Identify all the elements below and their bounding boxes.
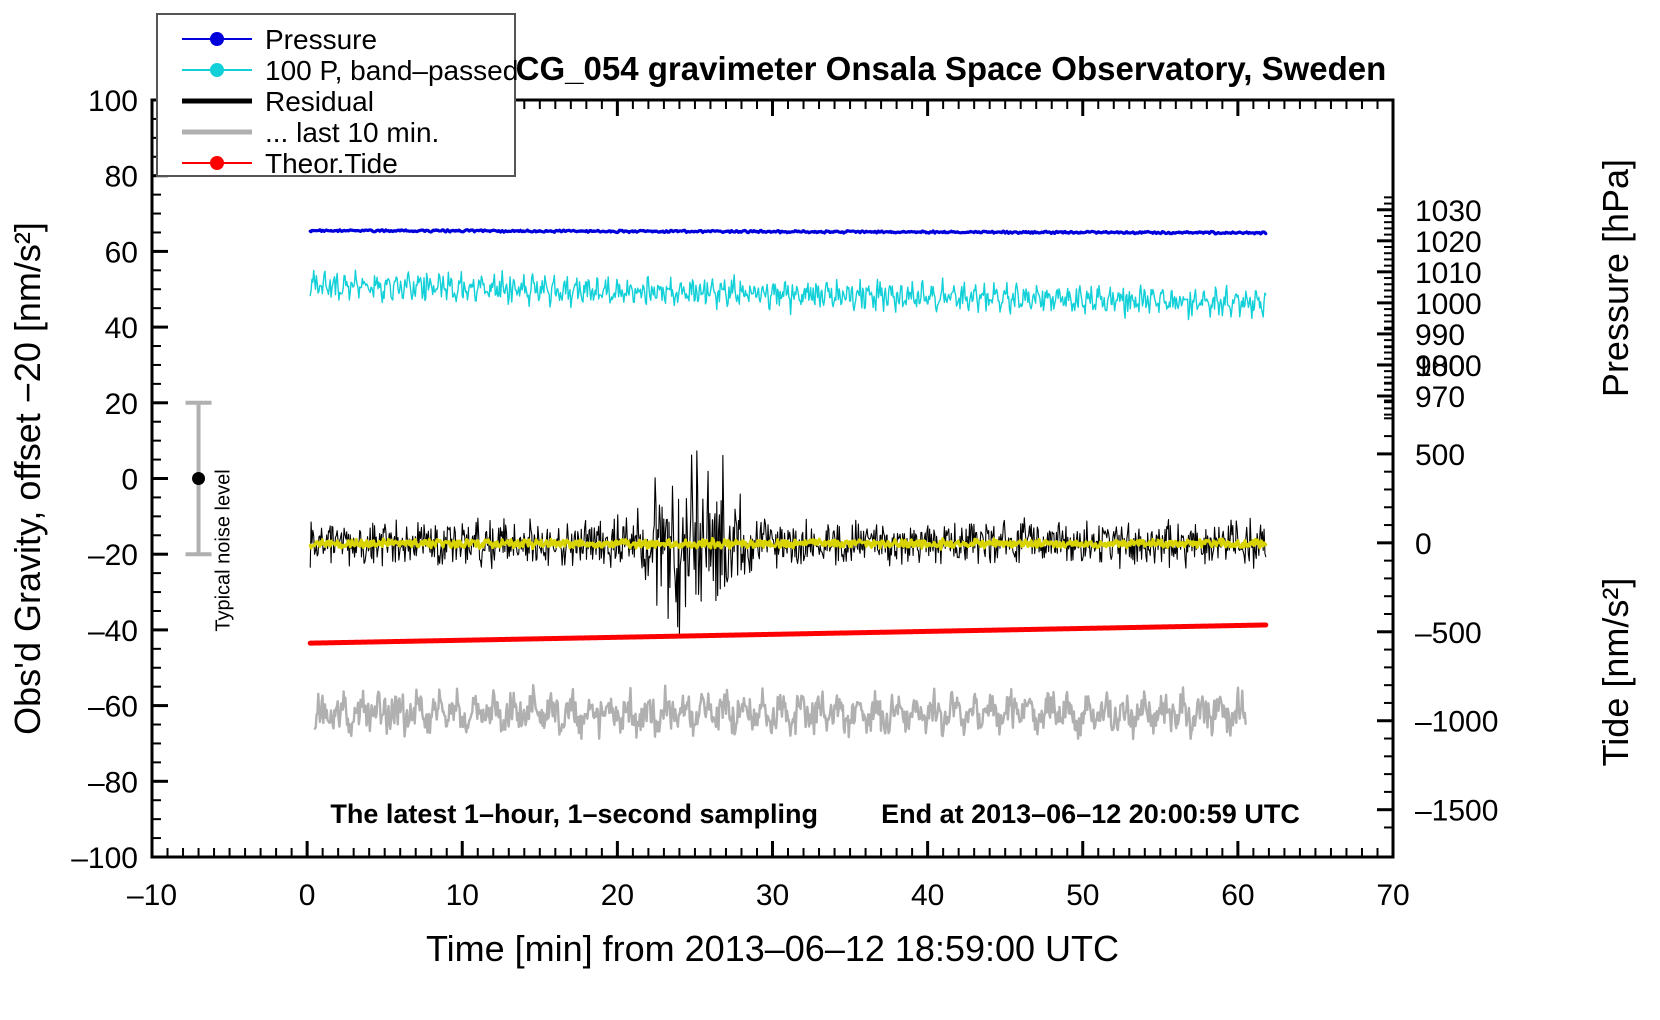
- tide-tick-label: 0: [1415, 528, 1432, 561]
- noise-center-dot: [192, 472, 205, 485]
- y-tick-label: –100: [71, 842, 138, 875]
- legend-item-label: 100 P, band–passed: [265, 55, 518, 86]
- pressure-tick-label: 990: [1415, 319, 1465, 352]
- gravimeter-plot: Typical noise level–10010203040506070Tim…: [0, 0, 1660, 1020]
- tide-axis-title: Tide [nm/s²]: [1595, 578, 1636, 767]
- y-tick-label: –20: [88, 539, 138, 572]
- legend-swatch-marker: [210, 63, 224, 77]
- x-tick-label: 0: [299, 879, 316, 912]
- legend-swatch-marker: [210, 32, 224, 46]
- tide-tick-label: 500: [1415, 439, 1465, 472]
- tide-tick-label: –1500: [1415, 795, 1498, 828]
- legend: Pressure100 P, band–passedResidual... la…: [157, 14, 518, 179]
- tide-tick-label: –1000: [1415, 706, 1498, 739]
- y-tick-label: 60: [105, 236, 138, 269]
- y-tick-label: –60: [88, 691, 138, 724]
- sampling-note: The latest 1–hour, 1–second sampling: [330, 799, 818, 829]
- y-tick-label: 20: [105, 388, 138, 421]
- pressure-tick-label: 1020: [1415, 226, 1482, 259]
- y-tick-label: –40: [88, 615, 138, 648]
- chart-title: SCG_054 gravimeter Onsala Space Observat…: [494, 50, 1387, 87]
- pressure-tick-label: 1010: [1415, 257, 1482, 290]
- x-tick-label: 40: [911, 879, 944, 912]
- legend-swatch-marker: [210, 156, 224, 170]
- x-tick-label: 70: [1376, 879, 1409, 912]
- y-tick-label: –80: [88, 766, 138, 799]
- chart-page: Typical noise level–10010203040506070Tim…: [0, 0, 1660, 1020]
- y-tick-label: 0: [121, 464, 138, 497]
- legend-item-label: Pressure: [265, 24, 377, 55]
- x-axis-title: Time [min] from 2013–06–12 18:59:00 UTC: [426, 928, 1119, 969]
- x-tick-label: –10: [127, 879, 177, 912]
- legend-item-label: ... last 10 min.: [265, 117, 439, 148]
- x-tick-label: 60: [1221, 879, 1254, 912]
- end-time-note: End at 2013–06–12 20:00:59 UTC: [881, 799, 1300, 829]
- x-tick-label: 10: [446, 879, 479, 912]
- x-tick-label: 50: [1066, 879, 1099, 912]
- pressure-tick-label: 970: [1415, 381, 1465, 414]
- y-tick-label: 40: [105, 312, 138, 345]
- pressure-tick-label: 1000: [1415, 288, 1482, 321]
- noise-level-label: Typical noise level: [213, 469, 235, 631]
- pressure-axis-title: Pressure [hPa]: [1595, 159, 1636, 397]
- y-tick-label: 100: [88, 85, 138, 118]
- tide-tick-label: 1000: [1415, 350, 1482, 383]
- legend-item-label: Theor.Tide: [265, 148, 398, 179]
- y-axis-title: Obs'd Gravity, offset −20 [nm/s²]: [7, 222, 48, 735]
- tide-tick-label: –500: [1415, 617, 1482, 650]
- pressure-tick-label: 1030: [1415, 195, 1482, 228]
- x-tick-label: 30: [756, 879, 789, 912]
- y-tick-label: 80: [105, 161, 138, 194]
- x-tick-label: 20: [601, 879, 634, 912]
- legend-item-label: Residual: [265, 86, 374, 117]
